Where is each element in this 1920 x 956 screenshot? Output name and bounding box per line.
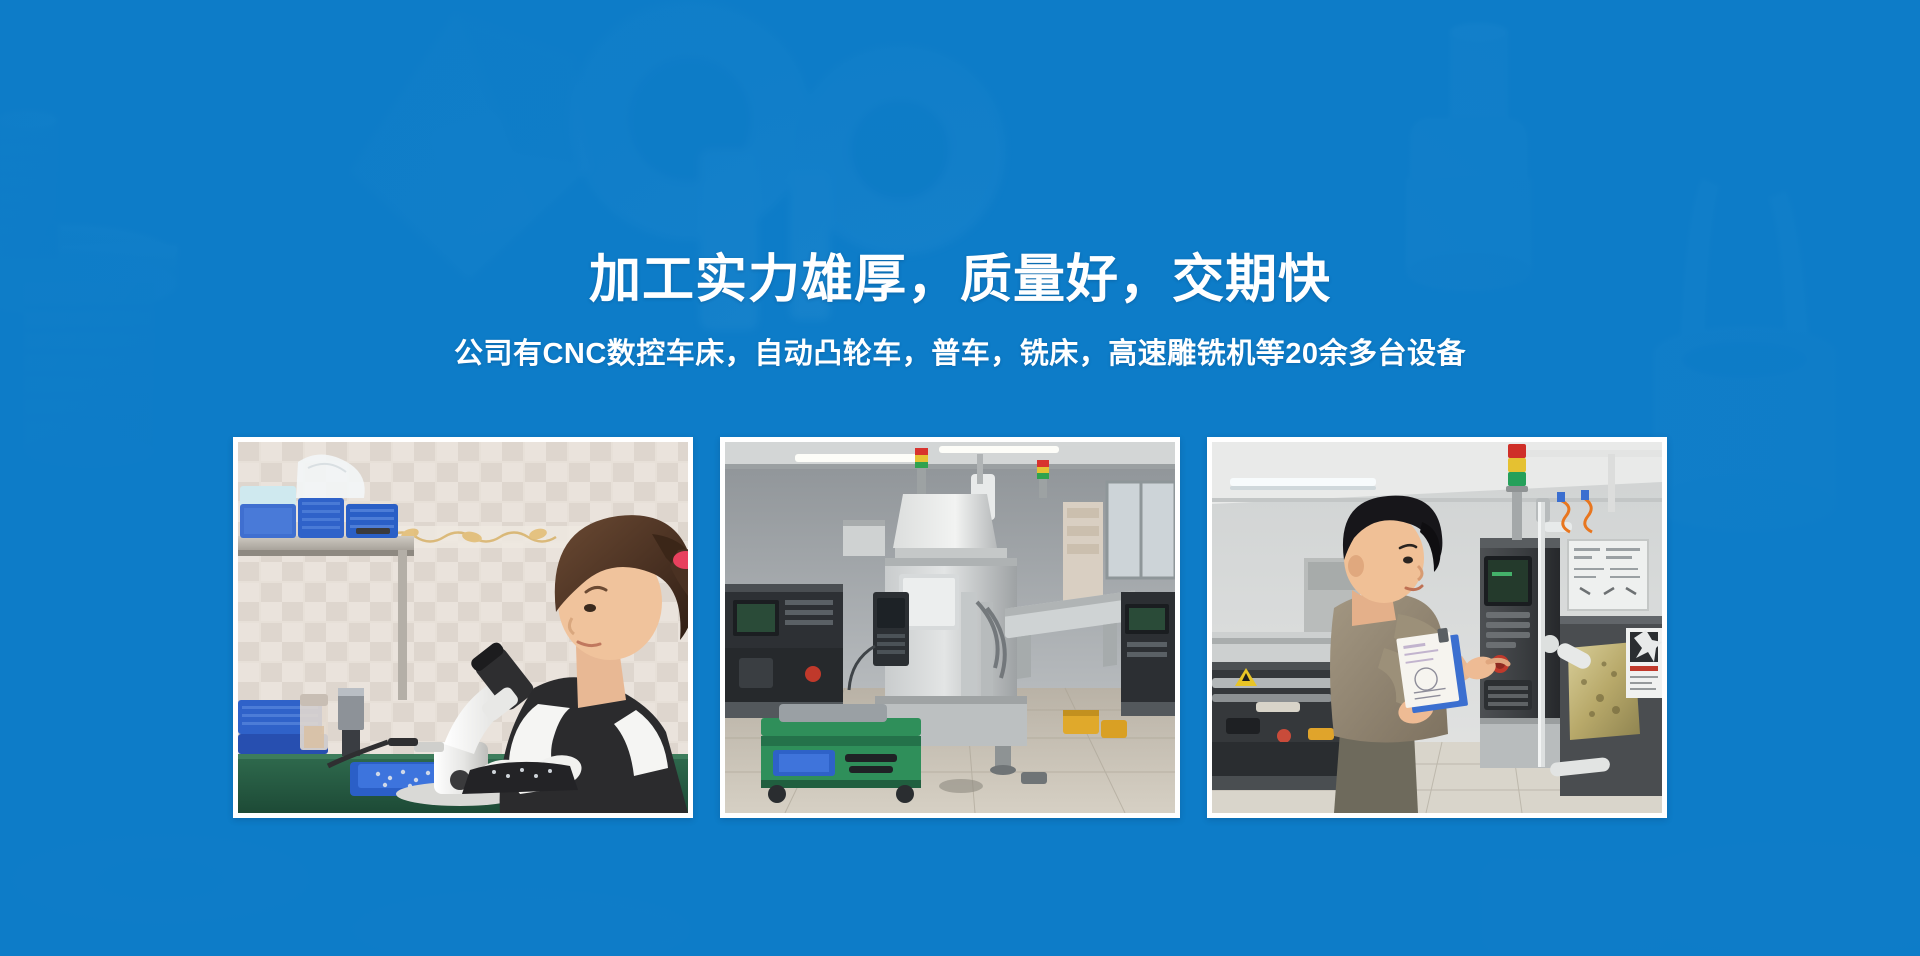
photo-2-image [725,442,1175,813]
gallery-photo-3[interactable] [1207,437,1667,818]
photo-1-image [238,442,688,813]
banner-text-block: 加工实力雄厚，质量好，交期快 公司有CNC数控车床，自动凸轮车，普车，铣床，高速… [0,248,1920,374]
photo-gallery [233,437,1667,818]
photo-3-image [1212,442,1662,813]
banner-subheadline: 公司有CNC数控车床，自动凸轮车，普车，铣床，高速雕铣机等20余多台设备 [0,334,1920,374]
gallery-photo-2[interactable] [720,437,1180,818]
promo-banner: 加工实力雄厚，质量好，交期快 公司有CNC数控车床，自动凸轮车，普车，铣床，高速… [0,0,1920,956]
gallery-photo-1[interactable] [233,437,693,818]
banner-headline: 加工实力雄厚，质量好，交期快 [0,248,1920,312]
